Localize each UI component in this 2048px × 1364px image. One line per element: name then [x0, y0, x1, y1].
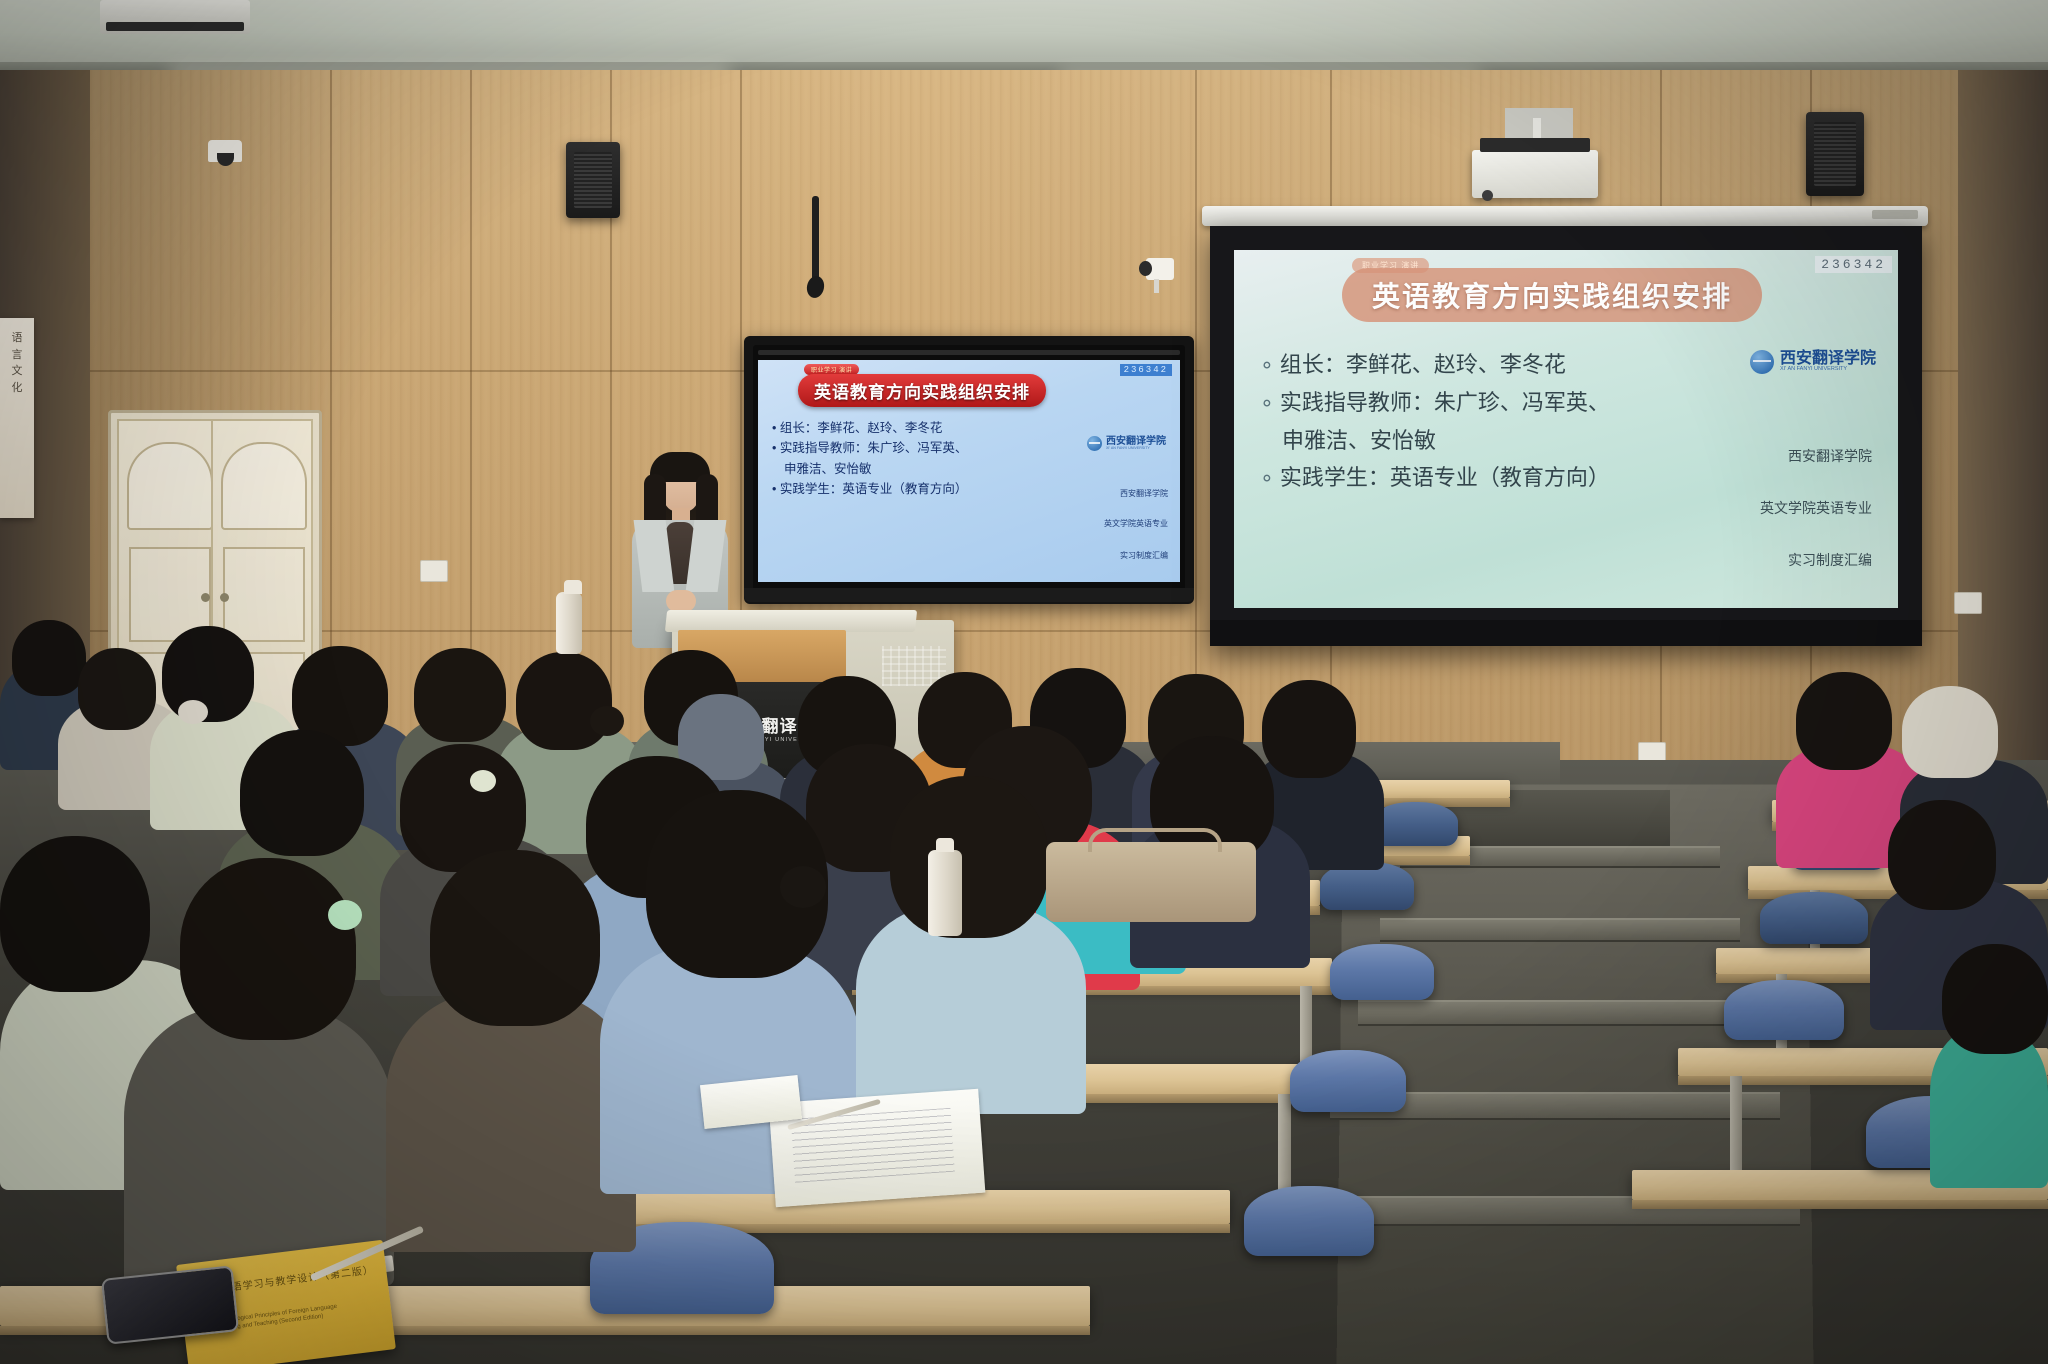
university-globe-icon: [1087, 436, 1102, 451]
slide-side-note: 实习制度汇编: [1788, 550, 1872, 570]
tv-slide-bullet: 实践学生：英语专业（教育方向）: [772, 479, 1170, 499]
slide-side-note: 英文学院英语专业: [1760, 498, 1872, 518]
podium-desktop: [665, 610, 917, 632]
university-logo-cn: 西安翻译学院: [1780, 351, 1876, 367]
tv-slide-side-note: 西安翻译学院: [1120, 488, 1168, 499]
student-head: [1796, 672, 1892, 770]
student-head: [78, 648, 156, 730]
university-logo-en: XI' AN FANYI UNIVERSITY: [1106, 447, 1166, 451]
tv-slide-watermark: 236342: [1120, 364, 1172, 376]
student-head: [180, 858, 356, 1040]
hair-clip-icon: [178, 700, 208, 724]
wall-power-outlet[interactable]: [1954, 592, 1982, 614]
water-bottle: [556, 592, 582, 654]
hair-clip-icon: [328, 900, 362, 930]
student-head: [890, 776, 1048, 938]
book-title-cn: 外语学习与教学设计（第二版）: [220, 1261, 375, 1295]
aisle-step: [1358, 1000, 1762, 1026]
wall-poster-text: 语言文化: [0, 330, 34, 396]
student-head: [0, 836, 150, 992]
classroom-photo: 语言文化 职业学习 演讲 236342 英语教育: [0, 0, 2048, 1364]
door-lower-panel: [223, 547, 305, 642]
door-knob-icon[interactable]: [201, 593, 210, 602]
desk-leg: [1730, 1076, 1742, 1170]
tv-bottom-bar: [744, 588, 1194, 602]
student-chair: [1330, 944, 1434, 1000]
student-head: [162, 626, 254, 722]
wall-tv-display[interactable]: 职业学习 演讲 236342 英语教育方向实践组织安排 组长：李鲜花、赵玲、李冬…: [744, 336, 1194, 604]
university-logo-en: XI' AN FANYI UNIVERSITY: [1780, 367, 1876, 373]
presenter-hands: [666, 590, 696, 612]
hair-clip-icon: [470, 770, 496, 792]
slide-title: 英语教育方向实践组织安排: [1342, 268, 1762, 322]
door-arch-panel: [221, 442, 307, 530]
student-chair: [1372, 802, 1458, 846]
university-globe-icon: [1750, 350, 1774, 374]
student-head: [240, 730, 364, 856]
projection-screen[interactable]: 职业学习 演讲 236342 英语教育方向实践组织安排 组长：李鲜花、赵玲、李冬…: [1210, 226, 1922, 646]
student-body: [386, 992, 636, 1252]
student-head: [1262, 680, 1356, 778]
projection-screen-rail: [1202, 206, 1928, 226]
hair-tie-icon: [780, 866, 826, 908]
student-head: [1888, 800, 1996, 910]
wall-speaker-icon: [566, 142, 620, 218]
student-chair: [1724, 980, 1844, 1040]
student-head-with-cap: [1902, 686, 1998, 778]
ceiling-air-vent-icon: [100, 0, 250, 34]
door-knob-icon[interactable]: [220, 593, 229, 602]
tv-slide-body: 组长：李鲜花、赵玲、李冬花 实践指导教师：朱广珍、冯军英、 申雅洁、安怡敏 实践…: [772, 418, 1170, 499]
student-chair: [1760, 892, 1868, 944]
student-head: [430, 850, 600, 1026]
wall-speaker-icon: [1806, 112, 1864, 196]
student-chair: [1290, 1050, 1406, 1112]
bullet-camera-icon: [1146, 258, 1174, 280]
slide-side-note: 西安翻译学院: [1788, 446, 1872, 466]
tv-slide-university-logo: 西安翻译学院 XI' AN FANYI UNIVERSITY: [1087, 436, 1166, 451]
tv-screen: 职业学习 演讲 236342 英语教育方向实践组织安排 组长：李鲜花、赵玲、李冬…: [758, 360, 1180, 582]
door-arch-panel: [127, 442, 213, 530]
wall-poster: 语言文化: [0, 318, 34, 518]
student-head: [414, 648, 506, 742]
wall-power-outlet[interactable]: [420, 560, 448, 582]
slide-watermark: 236342: [1815, 256, 1892, 273]
slide-university-logo: 西安翻译学院 XI' AN FANYI UNIVERSITY: [1750, 350, 1876, 374]
hair-tie-icon: [590, 706, 624, 736]
student-head: [516, 652, 612, 750]
student-chair: [1244, 1186, 1374, 1256]
projector-lens-icon: [1482, 190, 1493, 201]
tv-slide-bullet-cont: 申雅洁、安怡敏: [772, 459, 1170, 479]
student-desk: [1366, 780, 1510, 798]
water-bottle: [928, 850, 962, 936]
tv-slide-side-note: 实习制度汇编: [1120, 550, 1168, 561]
university-logo-text: 西安翻译学院 XI' AN FANYI UNIVERSITY: [1780, 351, 1876, 373]
printed-handout: [769, 1089, 986, 1207]
smartphone[interactable]: [101, 1265, 239, 1344]
projected-slide: 职业学习 演讲 236342 英语教育方向实践组织安排 组长：李鲜花、赵玲、李冬…: [1234, 250, 1898, 608]
handbag: [1046, 842, 1256, 922]
student-head: [12, 620, 86, 696]
dome-camera-icon: [208, 140, 242, 162]
tv-top-strip: [758, 350, 1180, 355]
desk-leg: [1278, 1094, 1291, 1194]
aisle-step: [1380, 918, 1740, 942]
tv-slide-title: 英语教育方向实践组织安排: [798, 374, 1046, 407]
screen-bottom-bar: [1210, 620, 1922, 646]
hanging-microphone-icon: [812, 196, 819, 286]
university-logo-text: 西安翻译学院 XI' AN FANYI UNIVERSITY: [1106, 437, 1166, 451]
student-head: [1942, 944, 2048, 1054]
tv-slide-side-note: 英文学院英语专业: [1104, 518, 1168, 529]
slide-bullet: 实践指导教师：朱广珍、冯军英、: [1260, 384, 1884, 422]
